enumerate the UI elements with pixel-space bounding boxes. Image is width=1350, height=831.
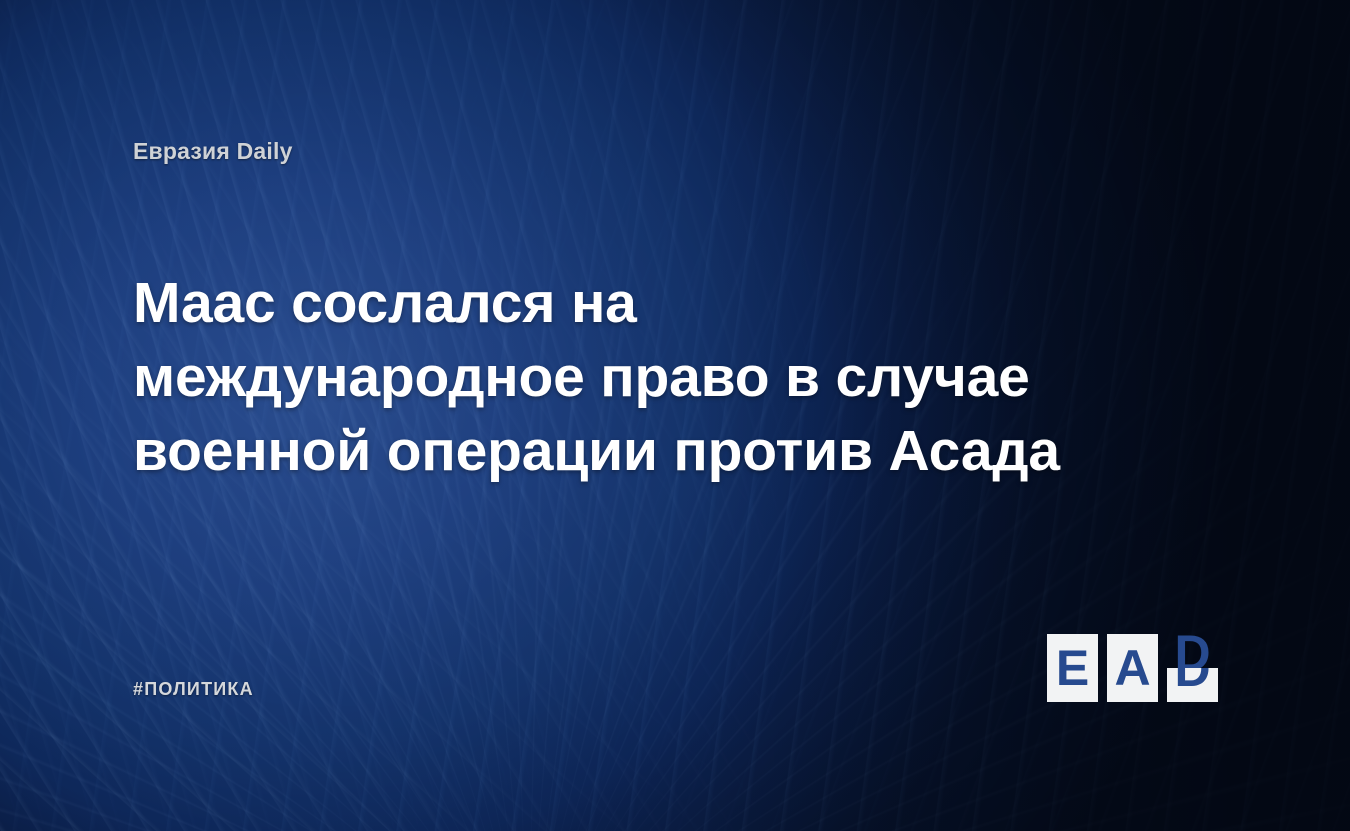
news-share-card: Евразия Daily Маас сослался на междунаро… (0, 0, 1350, 831)
logo-letter-d-tile: D (1167, 668, 1218, 702)
category-hashtag: #ПОЛИТИКА (133, 679, 254, 700)
brand-name: Евразия Daily (133, 138, 293, 165)
eadaily-logo: E A D D (1047, 630, 1219, 702)
logo-letter-d-accent: D (1167, 630, 1218, 670)
logo-letter-d-accent-glyph: D (1167, 630, 1218, 670)
logo-letter-e: E (1047, 634, 1098, 702)
card-content: Евразия Daily Маас сослался на междунаро… (0, 0, 1350, 831)
logo-letter-a: A (1107, 634, 1158, 702)
page-title: Маас сослался на международное право в с… (133, 266, 1093, 488)
logo-letter-d-glyph: D (1174, 668, 1210, 694)
